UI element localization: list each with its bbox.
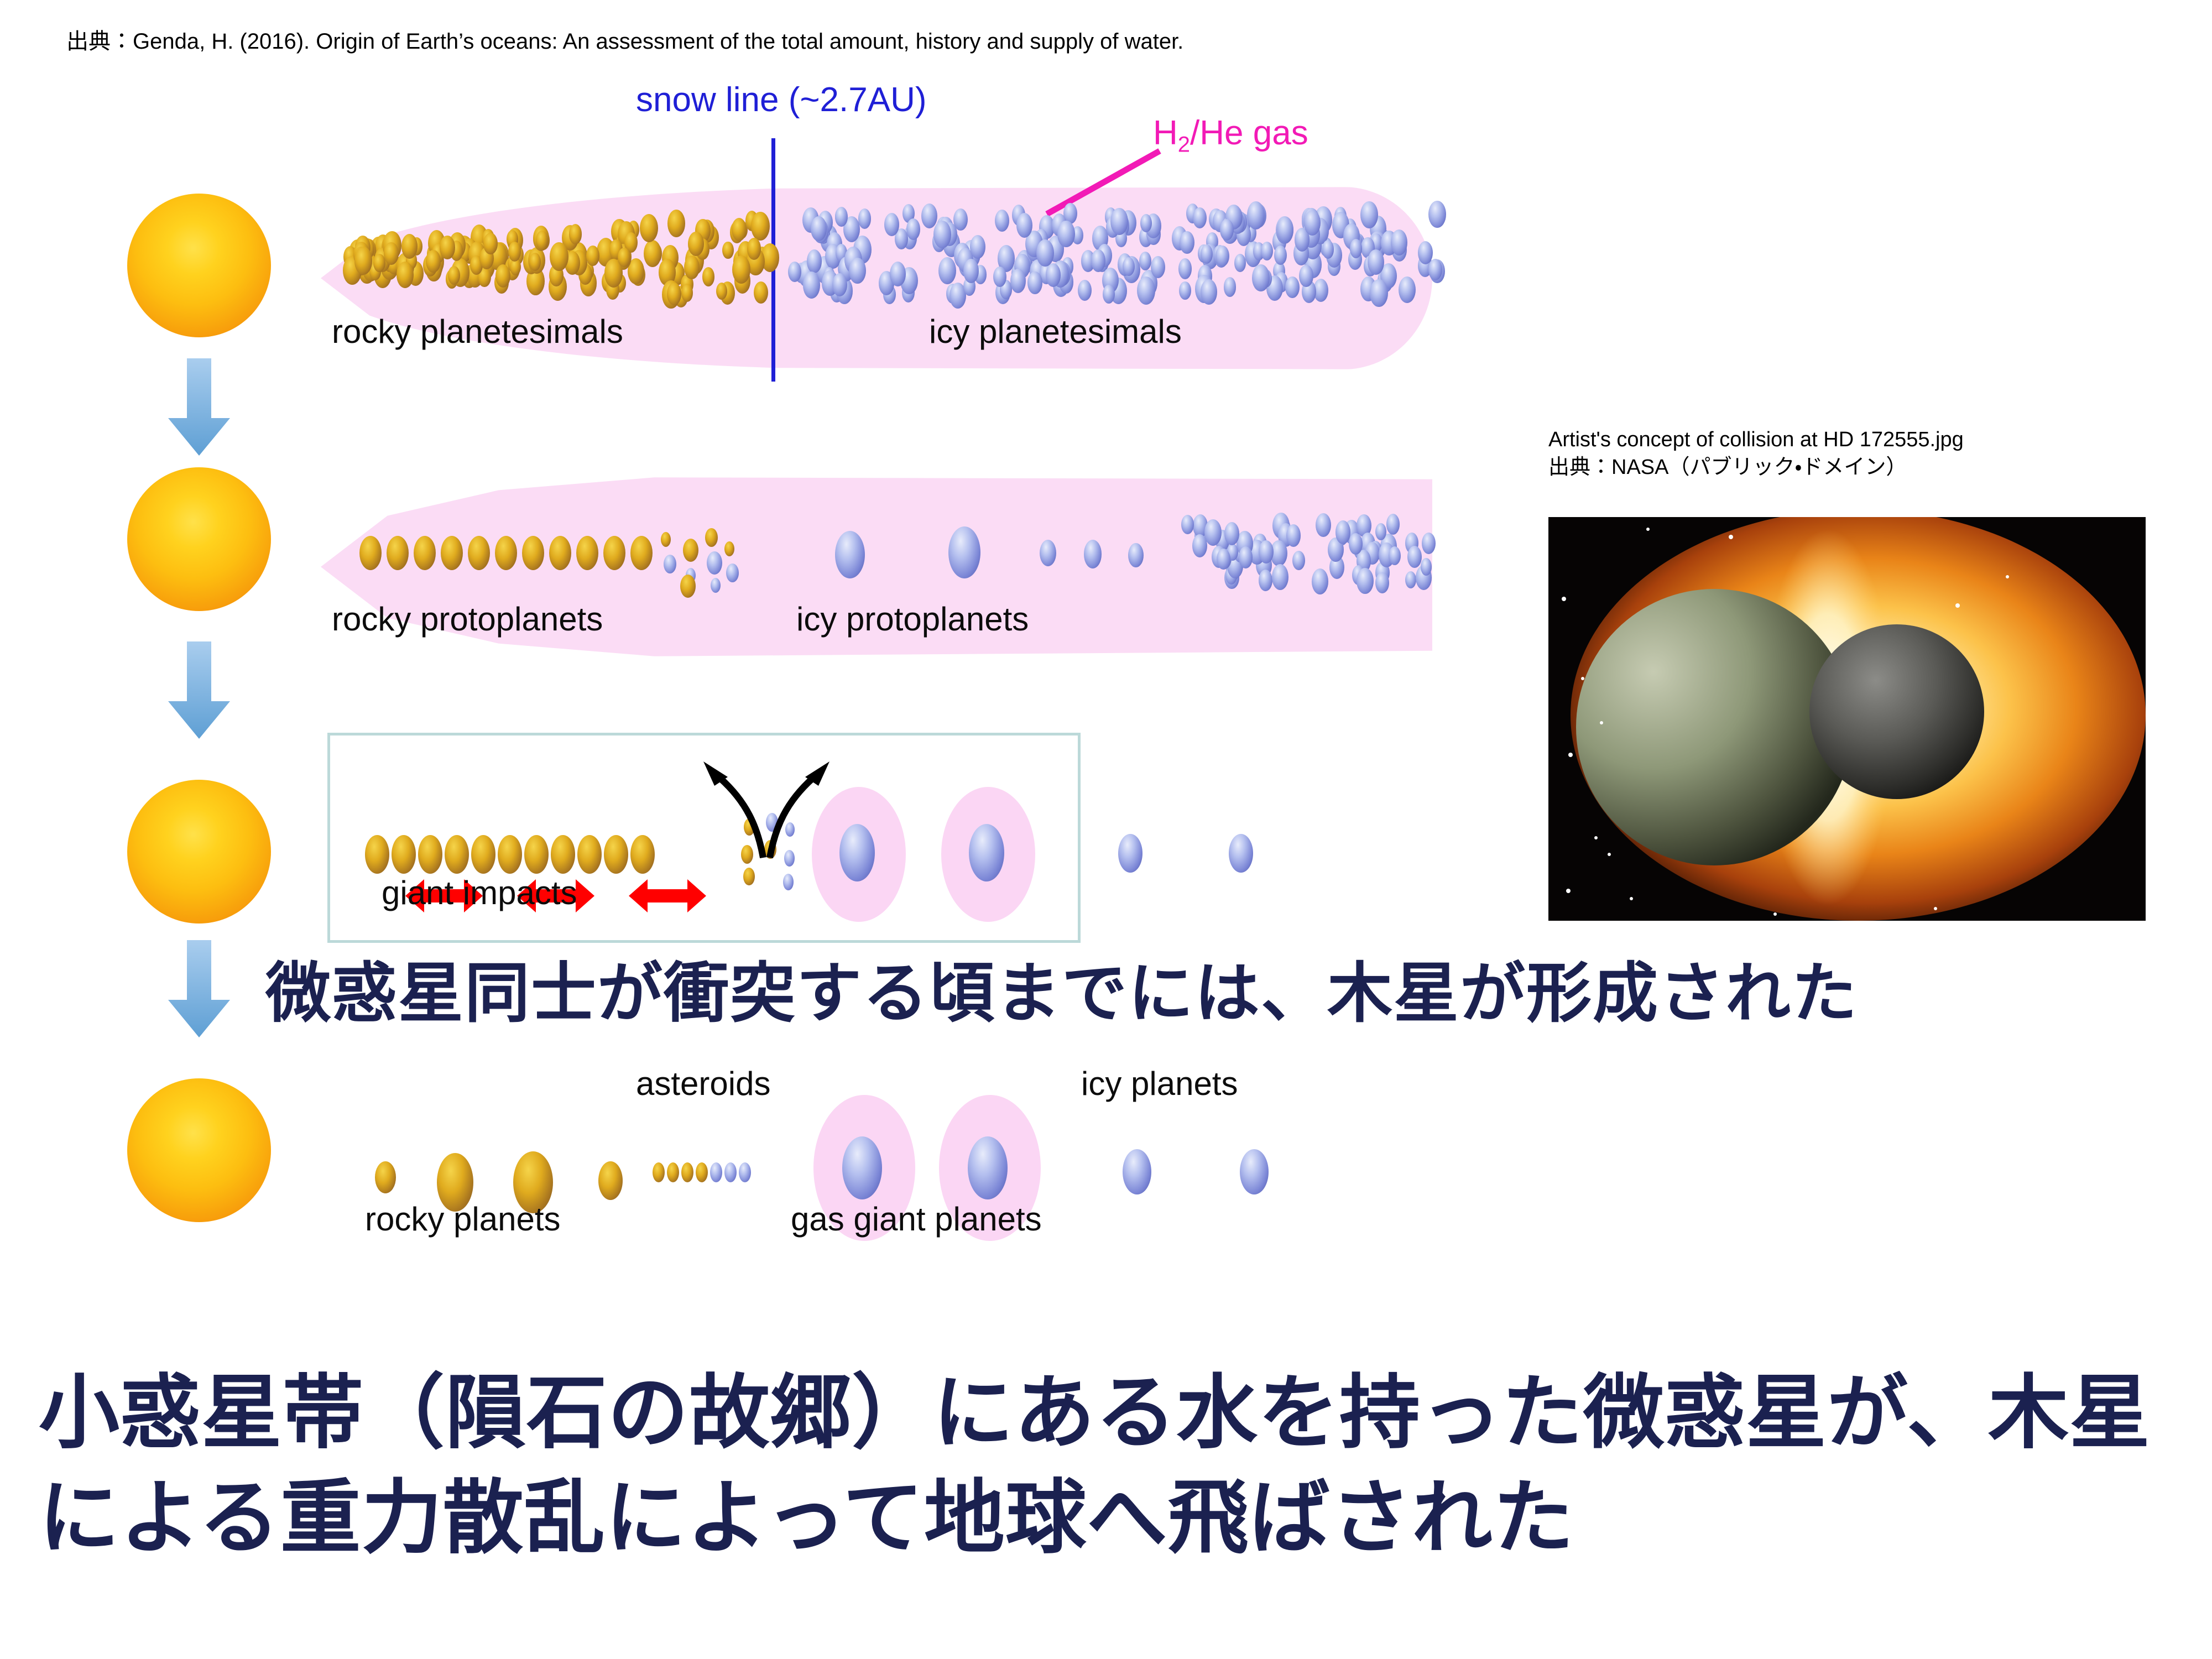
gas-giant-core — [968, 1136, 1008, 1199]
icy-planet — [1123, 1149, 1151, 1194]
icy-planets-label: icy planets — [1081, 1065, 1238, 1103]
icy-planet — [1240, 1149, 1269, 1194]
asteroid — [681, 1162, 693, 1182]
asteroid — [710, 1162, 722, 1182]
bottom-headline-line-1: 小惑星帯（隕石の故郷）にある水を持った微惑星が、木星 — [39, 1360, 2151, 1465]
gas-giant-core — [842, 1136, 882, 1199]
rocky-planets-label: rocky planets — [365, 1200, 561, 1238]
asteroid — [696, 1162, 708, 1182]
asteroid — [739, 1162, 751, 1182]
nasa-figure-caption: Artist's concept of collision at HD 1725… — [1548, 426, 1964, 481]
rocky-planet — [375, 1161, 396, 1193]
asteroid — [724, 1162, 737, 1182]
asteroid — [667, 1162, 679, 1182]
asteroids-label: asteroids — [636, 1065, 770, 1103]
gas-giant-planets-label: gas giant planets — [791, 1200, 1042, 1238]
mid-headline: 微惑星同士が衝突する頃までには、木星が形成された — [265, 940, 1858, 1035]
asteroid — [653, 1162, 665, 1182]
nasa-collision-artwork — [1548, 517, 2146, 921]
bottom-headline-line-2: による重力散乱によって地球へ飛ばされた — [39, 1465, 2151, 1571]
nasa-caption-line-2: 出典：NASA（パブリック・ドメイン） — [1548, 453, 1964, 481]
nasa-caption-line-1: Artist's concept of collision at HD 1725… — [1548, 426, 1964, 453]
bottom-headline: 小惑星帯（隕石の故郷）にある水を持った微惑星が、木星 による重力散乱によって地球… — [39, 1360, 2151, 1571]
rocky-planet — [598, 1161, 623, 1200]
